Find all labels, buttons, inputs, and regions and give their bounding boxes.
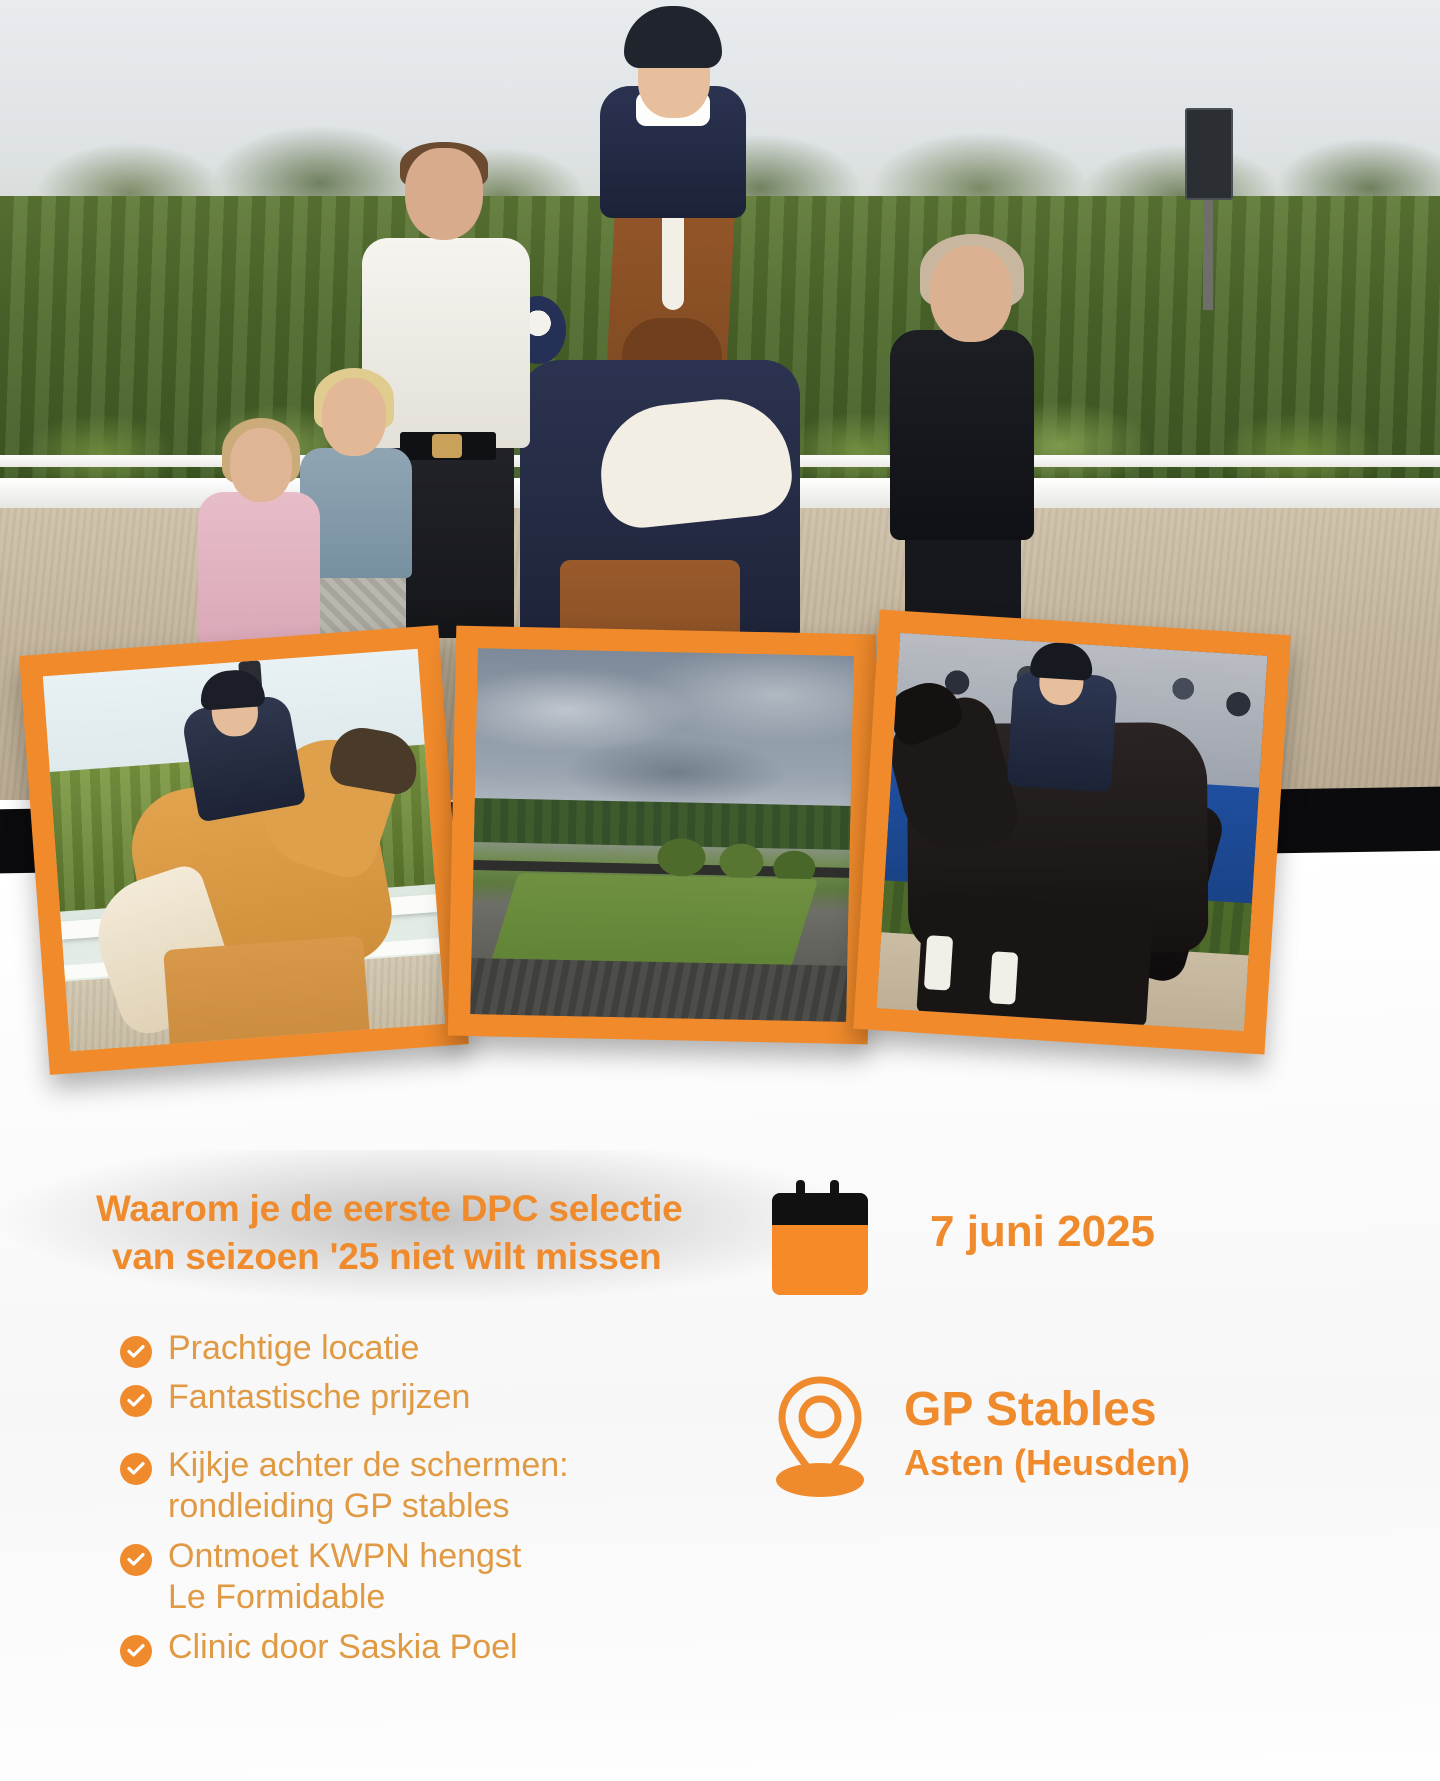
page-title: Waarom je de eerste DPC selectie van sei… [96, 1185, 796, 1281]
photo-collage: Mesta [0, 0, 1440, 1200]
photo3-leg-wrap [989, 951, 1018, 1005]
photo3-horse-legs [916, 893, 1153, 1027]
photo-arena-outdoor [470, 648, 854, 1022]
list-item-label: Kijkje achter de schermen: rondleiding G… [168, 1445, 569, 1528]
calendar-icon [768, 1180, 872, 1284]
benefits-list: Prachtige locatie Fantastische prijzen K… [120, 1328, 740, 1676]
photo2-paving [470, 958, 847, 1022]
photo-card-black-horse-indoor: Mesta [853, 609, 1291, 1054]
headline-line-1: Waarom je de eerste DPC selectie [96, 1188, 683, 1229]
check-circle-icon [120, 1385, 152, 1417]
event-location-text: GP Stables Asten (Heusden) [904, 1385, 1190, 1484]
photo-card-pony-dressage [19, 625, 469, 1075]
list-item: Kijkje achter de schermen: rondleiding G… [120, 1445, 740, 1528]
venue-city: Asten (Heusden) [904, 1440, 1190, 1485]
list-item-label: Clinic door Saskia Poel [168, 1627, 518, 1668]
photo3-leg-wrap [924, 935, 953, 991]
list-item-label: Ontmoet KWPN hengst Le Formidable [168, 1536, 521, 1619]
list-item-label: Fantastische prijzen [168, 1377, 470, 1418]
photo-card-arena-outdoor [448, 626, 876, 1045]
check-circle-icon [120, 1336, 152, 1368]
calendar-header-bar [772, 1193, 868, 1227]
headline-line-2: van seizoen '25 niet wilt missen [112, 1233, 796, 1281]
map-pin-icon [760, 1370, 880, 1500]
calendar-body [772, 1225, 868, 1295]
list-item-label: Prachtige locatie [168, 1328, 419, 1369]
event-date-value: 7 juni 2025 [930, 1210, 1155, 1254]
event-location-row: GP Stables Asten (Heusden) [760, 1370, 1190, 1500]
photo2-treeline [474, 798, 851, 850]
photo-black-horse-indoor: Mesta [877, 633, 1268, 1031]
list-item: Ontmoet KWPN hengst Le Formidable [120, 1536, 740, 1619]
event-flyer: Mesta Waarom [0, 0, 1440, 1781]
check-circle-icon [120, 1635, 152, 1667]
list-item: Clinic door Saskia Poel [120, 1627, 740, 1668]
list-item: Prachtige locatie [120, 1328, 740, 1369]
list-item: Fantastische prijzen [120, 1377, 740, 1418]
check-circle-icon [120, 1453, 152, 1485]
venue-name: GP Stables [904, 1385, 1190, 1435]
check-circle-icon [120, 1544, 152, 1576]
event-date-row: 7 juni 2025 [760, 1180, 1155, 1284]
photo1-pony-legs [163, 936, 371, 1052]
photo-pony-dressage [43, 649, 446, 1052]
